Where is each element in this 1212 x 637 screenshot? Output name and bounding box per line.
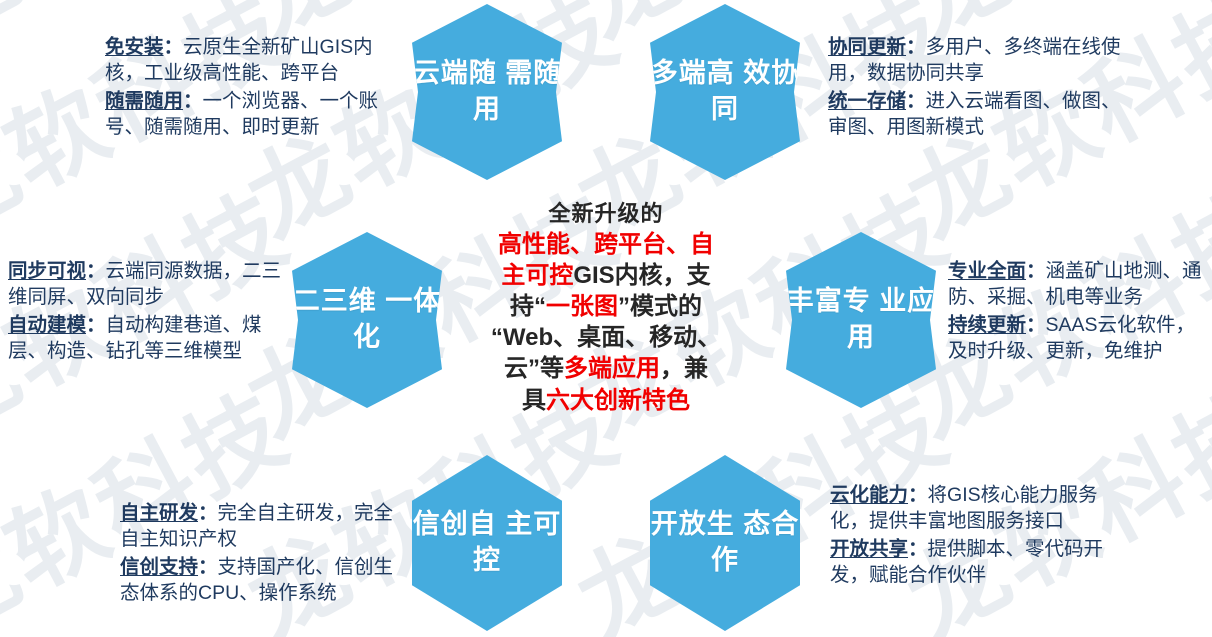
- hexagon-label: 云端随 需随用: [412, 56, 562, 127]
- feature-item: 信创支持：支持国产化、信创生态体系的CPU、操作系统: [120, 554, 408, 606]
- feature-item-colon: ：: [906, 36, 926, 58]
- feature-item-key: 云化能力: [830, 484, 908, 506]
- feature-text-open-ecosystem: 云化能力：将GIS核心能力服务化，提供丰富地图服务接口开放共享：提供脚本、零代码…: [830, 482, 1130, 591]
- center-line-6: 云”等多端应用，兼: [462, 353, 750, 384]
- hexagon-label: 开放生 态合作: [650, 507, 800, 578]
- hexagon-label-line1: 多端高: [651, 58, 735, 88]
- hexagon-2d3d-integration[interactable]: 二三维 一体化: [292, 232, 442, 408]
- center-headline: 全新升级的 高性能、跨平台、自 主可控GIS内核，支 持“一张图”模式的 “We…: [462, 200, 750, 416]
- hexagon-label: 丰富专 业应用: [786, 284, 936, 355]
- feature-item-key: 自动建模: [8, 314, 86, 336]
- center-line-1: 全新升级的: [462, 200, 750, 229]
- feature-text-2d3d-integration: 同步可视：云端同源数据，二三维同屏、双向同步自动建模：自动构建巷道、煤层、构造、…: [8, 258, 290, 367]
- feature-item-colon: ：: [164, 36, 184, 58]
- feature-item-colon: ：: [86, 260, 106, 282]
- hexagon-cloud-on-demand[interactable]: 云端随 需随用: [412, 4, 562, 180]
- hexagon-label-line1: 云端随: [413, 58, 497, 88]
- hexagon-label: 信创自 主可控: [412, 507, 562, 578]
- hexagon-label-line1: 丰富专: [787, 286, 871, 316]
- infographic-canvas: 龙软科技龙软科技龙软科技龙软科技龙软科技龙软科技龙软科技龙软科技龙软科技龙软科技…: [0, 0, 1212, 637]
- feature-item-key: 开放共享: [830, 538, 908, 560]
- feature-item-key: 持续更新: [948, 314, 1026, 336]
- hexagon-label-line1: 开放生: [651, 509, 735, 539]
- feature-item-colon: ：: [198, 502, 218, 524]
- hexagon-label-line1: 信创自: [413, 509, 497, 539]
- center-line-2: 高性能、跨平台、自: [462, 229, 750, 260]
- feature-item-colon: ：: [1026, 314, 1046, 336]
- feature-item-colon: ：: [908, 484, 928, 506]
- hexagon-open-ecosystem[interactable]: 开放生 态合作: [650, 455, 800, 631]
- center-line-3: 主可控GIS内核，支: [462, 260, 750, 291]
- feature-item-key: 信创支持: [120, 556, 198, 578]
- feature-item-key: 同步可视: [8, 260, 86, 282]
- feature-text-cloud-on-demand: 免安装：云原生全新矿山GIS内核，工业级高性能、跨平台随需随用：一个浏览器、一个…: [105, 34, 405, 143]
- feature-item-colon: ：: [198, 556, 218, 578]
- feature-item: 随需随用：一个浏览器、一个账号、随需随用、即时更新: [105, 88, 405, 140]
- feature-item-colon: ：: [906, 90, 926, 112]
- feature-item: 统一存储：进入云端看图、做图、审图、用图新模式: [828, 88, 1136, 140]
- feature-item-colon: ：: [86, 314, 106, 336]
- feature-text-xinchuang-control: 自主研发：完全自主研发，完全自主知识产权信创支持：支持国产化、信创生态体系的CP…: [120, 500, 408, 609]
- feature-text-rich-applications: 专业全面：涵盖矿山地测、通防、采掘、机电等业务持续更新：SAAS云化软件，及时升…: [948, 258, 1210, 367]
- feature-item-key: 协同更新: [828, 36, 906, 58]
- feature-item: 持续更新：SAAS云化软件，及时升级、更新，免维护: [948, 312, 1210, 364]
- feature-item: 云化能力：将GIS核心能力服务化，提供丰富地图服务接口: [830, 482, 1130, 534]
- feature-item-key: 自主研发: [120, 502, 198, 524]
- feature-item-colon: ：: [1026, 260, 1046, 282]
- center-line-7: 具六大创新特色: [462, 385, 750, 416]
- feature-item-key: 统一存储: [828, 90, 906, 112]
- hexagon-rich-applications[interactable]: 丰富专 业应用: [786, 232, 936, 408]
- feature-item: 协同更新：多用户、多终端在线使用，数据协同共享: [828, 34, 1136, 86]
- feature-text-multi-terminal: 协同更新：多用户、多终端在线使用，数据协同共享统一存储：进入云端看图、做图、审图…: [828, 34, 1136, 143]
- feature-item-colon: ：: [908, 538, 928, 560]
- feature-item: 专业全面：涵盖矿山地测、通防、采掘、机电等业务: [948, 258, 1210, 310]
- hexagon-multi-terminal[interactable]: 多端高 效协同: [650, 4, 800, 180]
- feature-item: 同步可视：云端同源数据，二三维同屏、双向同步: [8, 258, 290, 310]
- feature-item: 自主研发：完全自主研发，完全自主知识产权: [120, 500, 408, 552]
- feature-item: 自动建模：自动构建巷道、煤层、构造、钻孔等三维模型: [8, 312, 290, 364]
- hexagon-label: 多端高 效协同: [650, 56, 800, 127]
- center-line-5: “Web、桌面、移动、: [462, 322, 750, 353]
- feature-item: 免安装：云原生全新矿山GIS内核，工业级高性能、跨平台: [105, 34, 405, 86]
- hexagon-label: 二三维 一体化: [292, 284, 442, 355]
- feature-item-key: 随需随用: [105, 90, 183, 112]
- hexagon-label-line1: 二三维: [293, 286, 377, 316]
- feature-item: 开放共享：提供脚本、零代码开发，赋能合作伙伴: [830, 536, 1130, 588]
- feature-item-colon: ：: [183, 90, 203, 112]
- feature-item-key: 免安装: [105, 36, 164, 58]
- feature-item-key: 专业全面: [948, 260, 1026, 282]
- hexagon-xinchuang-control[interactable]: 信创自 主可控: [412, 455, 562, 631]
- center-line-4: 持“一张图”模式的: [462, 291, 750, 322]
